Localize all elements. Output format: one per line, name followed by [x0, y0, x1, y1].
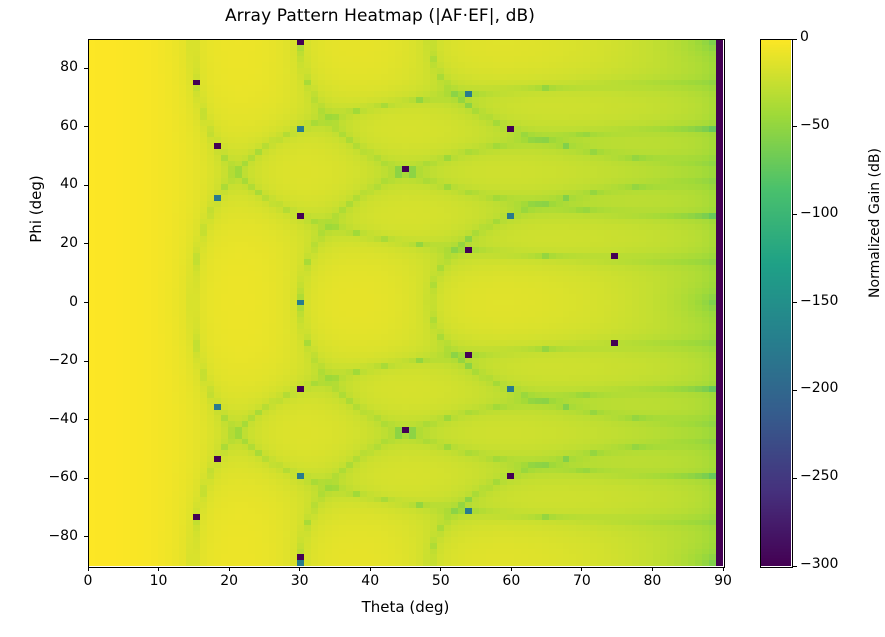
colorbar-tick-label: −50	[800, 117, 860, 133]
colorbar-tick-label: −300	[800, 556, 860, 572]
y-tick-mark	[84, 478, 88, 479]
x-tick-label: 0	[58, 573, 118, 589]
x-tick-label: 30	[270, 573, 330, 589]
colorbar-label: Normalized Gain (dB)	[867, 123, 883, 323]
colorbar-tick-label: −150	[800, 293, 860, 309]
x-tick-mark	[158, 567, 159, 571]
x-tick-label: 40	[340, 573, 400, 589]
x-tick-label: 20	[199, 573, 259, 589]
x-tick-mark	[581, 567, 582, 571]
colorbar-tick-mark	[793, 566, 797, 567]
colorbar-tick-mark	[793, 390, 797, 391]
x-tick-mark	[88, 567, 89, 571]
y-tick-mark	[84, 361, 88, 362]
y-tick-mark	[84, 243, 88, 244]
x-axis-label: Theta (deg)	[88, 598, 723, 616]
colorbar-tick-mark	[793, 126, 797, 127]
x-tick-mark	[440, 567, 441, 571]
colorbar-tick-mark	[793, 214, 797, 215]
y-axis-label: Phi (deg)	[27, 129, 45, 289]
x-tick-label: 60	[481, 573, 541, 589]
chart-figure: Array Pattern Heatmap (|AF·EF|, dB) 0102…	[0, 0, 885, 637]
y-tick-label: −60	[16, 469, 78, 485]
x-tick-mark	[652, 567, 653, 571]
x-tick-mark	[723, 567, 724, 571]
x-tick-label: 70	[552, 573, 612, 589]
x-tick-mark	[370, 567, 371, 571]
y-tick-mark	[84, 68, 88, 69]
y-tick-label: 80	[16, 59, 78, 75]
colorbar-tick-label: 0	[800, 29, 860, 45]
y-tick-mark	[84, 419, 88, 420]
heatmap-plot-area	[88, 39, 723, 566]
colorbar-gradient	[760, 39, 791, 566]
y-tick-mark	[84, 185, 88, 186]
heatmap-canvas	[88, 39, 723, 566]
y-tick-label: −40	[16, 411, 78, 427]
x-tick-label: 10	[129, 573, 189, 589]
colorbar	[760, 39, 791, 566]
colorbar-tick-label: −100	[800, 205, 860, 221]
y-tick-label: 0	[16, 294, 78, 310]
y-tick-mark	[84, 536, 88, 537]
x-tick-mark	[511, 567, 512, 571]
x-tick-mark	[229, 567, 230, 571]
colorbar-tick-mark	[793, 302, 797, 303]
y-tick-label: 20	[16, 235, 78, 251]
colorbar-tick-label: −250	[800, 468, 860, 484]
colorbar-tick-label: −200	[800, 380, 860, 396]
x-tick-label: 80	[622, 573, 682, 589]
y-tick-label: −80	[16, 528, 78, 544]
x-tick-label: 50	[411, 573, 471, 589]
y-tick-label: −20	[16, 352, 78, 368]
colorbar-tick-mark	[793, 39, 797, 40]
colorbar-tick-mark	[793, 478, 797, 479]
x-tick-mark	[299, 567, 300, 571]
y-tick-mark	[84, 302, 88, 303]
x-tick-label: 90	[693, 573, 753, 589]
chart-title: Array Pattern Heatmap (|AF·EF|, dB)	[0, 6, 760, 26]
y-tick-label: 40	[16, 176, 78, 192]
y-tick-mark	[84, 126, 88, 127]
y-tick-label: 60	[16, 118, 78, 134]
